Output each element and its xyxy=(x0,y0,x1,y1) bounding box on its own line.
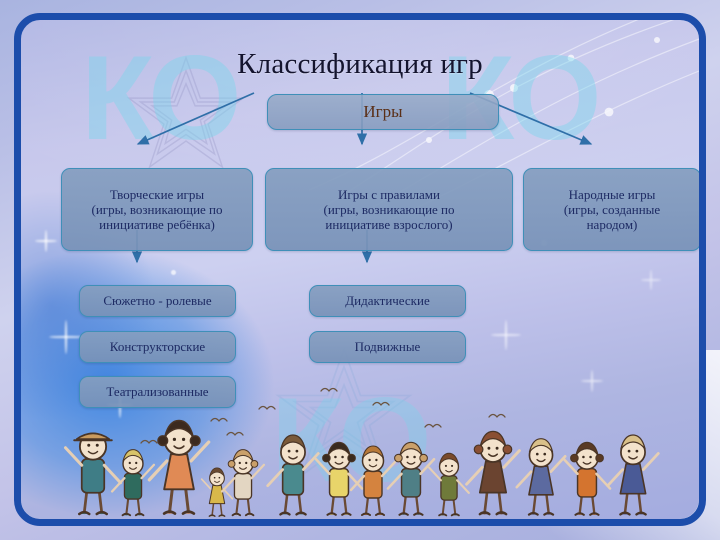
slide-frame-border xyxy=(14,13,706,526)
slide-canvas: КО КО КО Классификация игр xyxy=(0,0,720,540)
